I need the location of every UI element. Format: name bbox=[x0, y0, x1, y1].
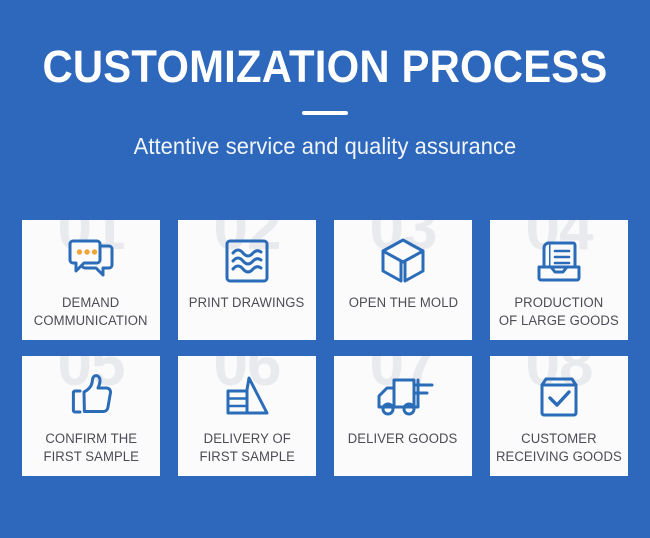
document-tray-icon bbox=[533, 230, 585, 292]
chat-bubbles-icon bbox=[63, 230, 119, 292]
thumbs-up-icon bbox=[66, 366, 116, 428]
process-step-card-02[interactable]: 02 PRINT DRAWINGS bbox=[178, 220, 316, 340]
page-subtitle: Attentive service and quality assurance bbox=[16, 115, 634, 160]
framed-waves-icon bbox=[223, 230, 271, 292]
step-label: CONFIRM THE FIRST SAMPLE bbox=[39, 430, 142, 466]
step-label: PRINT DRAWINGS bbox=[185, 294, 308, 312]
process-steps-grid: 01 DEMAND COMMUNICATION 02 bbox=[22, 220, 630, 476]
process-step-card-01[interactable]: 01 DEMAND COMMUNICATION bbox=[22, 220, 160, 340]
process-step-card-08[interactable]: 08 CUSTOMER RECEIVING GOODS bbox=[490, 356, 628, 476]
process-step-card-07[interactable]: 07 DELIVER GOODS bbox=[334, 356, 472, 476]
step-label: DELIVERY OF FIRST SAMPLE bbox=[195, 430, 298, 466]
process-step-card-04[interactable]: 04 PRODUCTION OF LARGE GOODS bbox=[490, 220, 628, 340]
delivery-truck-icon bbox=[372, 366, 434, 428]
step-label: OPEN THE MOLD bbox=[344, 294, 461, 312]
step-label: PRODUCTION OF LARGE GOODS bbox=[495, 294, 623, 330]
page-title: CUSTOMIZATION PROCESS bbox=[23, 0, 628, 89]
step-label: CUSTOMER RECEIVING GOODS bbox=[492, 430, 626, 466]
cube-box-icon bbox=[378, 230, 428, 292]
customization-process-poster: CUSTOMIZATION PROCESS Attentive service … bbox=[0, 0, 650, 538]
process-step-card-05[interactable]: 05 CONFIRM THE FIRST SAMPLE bbox=[22, 356, 160, 476]
step-label: DELIVER GOODS bbox=[344, 430, 461, 448]
process-step-card-06[interactable]: 06 DELIVERY OF FIRST SAMPLE bbox=[178, 356, 316, 476]
poster-header: CUSTOMIZATION PROCESS Attentive service … bbox=[0, 0, 650, 160]
process-step-card-03[interactable]: 03 OPEN THE MOLD bbox=[334, 220, 472, 340]
box-check-icon bbox=[534, 366, 584, 428]
pyramid-stack-icon bbox=[221, 366, 273, 428]
step-label: DEMAND COMMUNICATION bbox=[30, 294, 152, 330]
